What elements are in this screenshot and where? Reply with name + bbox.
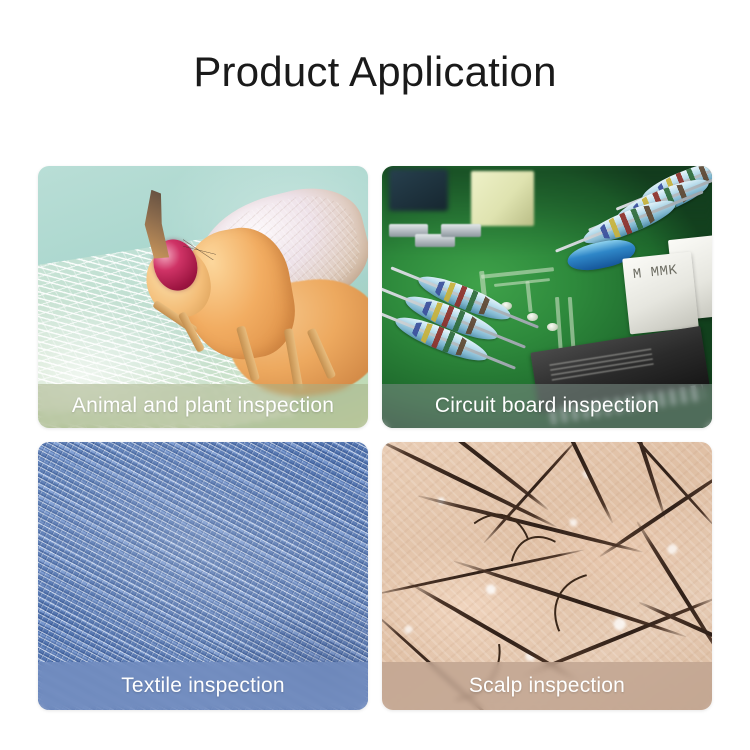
pcb-component-lead: [441, 224, 481, 237]
product-application-page: Product Application Animal and: [0, 0, 750, 750]
panel-scalp[interactable]: Scalp inspection: [382, 442, 712, 710]
pcb-trace: [481, 267, 554, 278]
fly-bristles: [183, 239, 216, 260]
pcb-yellow-component: [471, 171, 534, 226]
panel-textile[interactable]: Textile inspection: [38, 442, 368, 710]
caption-label: Animal and plant inspection: [72, 394, 334, 418]
ic-marking: [549, 345, 654, 381]
pcb-trace: [494, 278, 550, 287]
page-title: Product Application: [0, 48, 750, 96]
pcb-trace: [526, 281, 533, 313]
panel-caption-scalp: Scalp inspection: [382, 662, 712, 710]
panel-caption-animal-plant: Animal and plant inspection: [38, 384, 368, 428]
caption-label: Textile inspection: [121, 674, 285, 698]
panel-caption-circuit-board: Circuit board inspection: [382, 384, 712, 428]
pcb-solder-pad: [527, 313, 538, 321]
pcb-dark-component: [389, 169, 448, 211]
panel-caption-textile: Textile inspection: [38, 662, 368, 710]
caption-label: Scalp inspection: [469, 674, 625, 698]
caption-label: Circuit board inspection: [435, 394, 659, 418]
panel-circuit-board[interactable]: M MMK Circuit board inspection: [382, 166, 712, 428]
panel-animal-plant[interactable]: Animal and plant inspection: [38, 166, 368, 428]
application-panel-grid: Animal and plant inspection: [38, 166, 712, 710]
